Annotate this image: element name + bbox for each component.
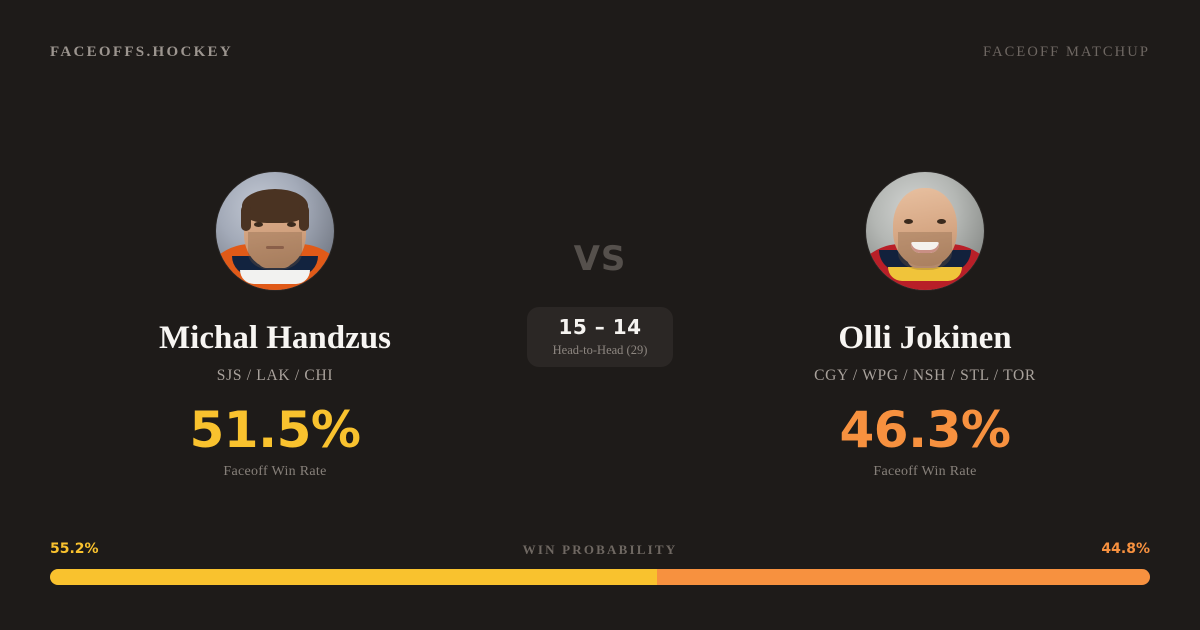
mouth-shape: [911, 242, 939, 253]
player-right-teams: CGY / WPG / NSH / STL / TOR: [814, 367, 1036, 385]
head-to-head-label: Head-to-Head (29): [553, 344, 648, 357]
player-left-faceoff-pct: 51.5%: [190, 405, 361, 455]
player-left-name: Michal Handzus: [159, 320, 391, 356]
head-to-head-score: 15 – 14: [558, 317, 641, 337]
player-left-avatar: [216, 172, 334, 290]
matchup-section: Michal Handzus SJS / LAK / CHI 51.5% Fac…: [0, 150, 1200, 470]
eye-right: [287, 222, 296, 227]
player-left-teams: SJS / LAK / CHI: [217, 367, 333, 385]
collar-trim-shape: [240, 270, 310, 284]
brand-logo: FACEOFFS.HOCKEY: [50, 44, 233, 61]
hair-shape: [242, 189, 308, 223]
vs-label: VS: [574, 242, 627, 276]
win-probability-labels: 55.2% WIN PROBABILITY 44.8%: [50, 541, 1150, 557]
win-probability-section: 55.2% WIN PROBABILITY 44.8%: [50, 541, 1150, 585]
mouth-shape: [266, 246, 284, 249]
win-probability-title: WIN PROBABILITY: [523, 543, 678, 556]
player-right: Olli Jokinen CGY / WPG / NSH / STL / TOR…: [700, 150, 1150, 480]
eye-right: [937, 219, 946, 224]
beard-shape: [248, 232, 302, 270]
player-right-name: Olli Jokinen: [838, 320, 1011, 356]
win-probability-right-pct: 44.8%: [1101, 542, 1150, 556]
win-probability-left-pct: 55.2%: [50, 542, 99, 556]
head-to-head-badge: 15 – 14 Head-to-Head (29): [527, 307, 673, 367]
player-right-faceoff-pct: 46.3%: [840, 405, 1011, 455]
eye-left: [904, 219, 913, 224]
player-right-photo: [866, 172, 984, 290]
eyes-shape: [904, 219, 946, 224]
versus-section: VS 15 – 14 Head-to-Head (29): [500, 150, 700, 367]
player-left-photo: [216, 172, 334, 290]
header-tag: FACEOFF MATCHUP: [983, 44, 1150, 61]
win-probability-bar-right: [657, 569, 1150, 585]
player-right-faceoff-label: Faceoff Win Rate: [873, 464, 976, 480]
matchup-card: FACEOFFS.HOCKEY FACEOFF MATCHUP: [0, 0, 1200, 630]
eyes-shape: [254, 222, 296, 227]
player-left-faceoff-label: Faceoff Win Rate: [223, 464, 326, 480]
player-left: Michal Handzus SJS / LAK / CHI 51.5% Fac…: [50, 150, 500, 480]
eye-left: [254, 222, 263, 227]
win-probability-bar: [50, 569, 1150, 585]
player-right-avatar: [866, 172, 984, 290]
header: FACEOFFS.HOCKEY FACEOFF MATCHUP: [50, 40, 1150, 64]
win-probability-bar-left: [50, 569, 657, 585]
